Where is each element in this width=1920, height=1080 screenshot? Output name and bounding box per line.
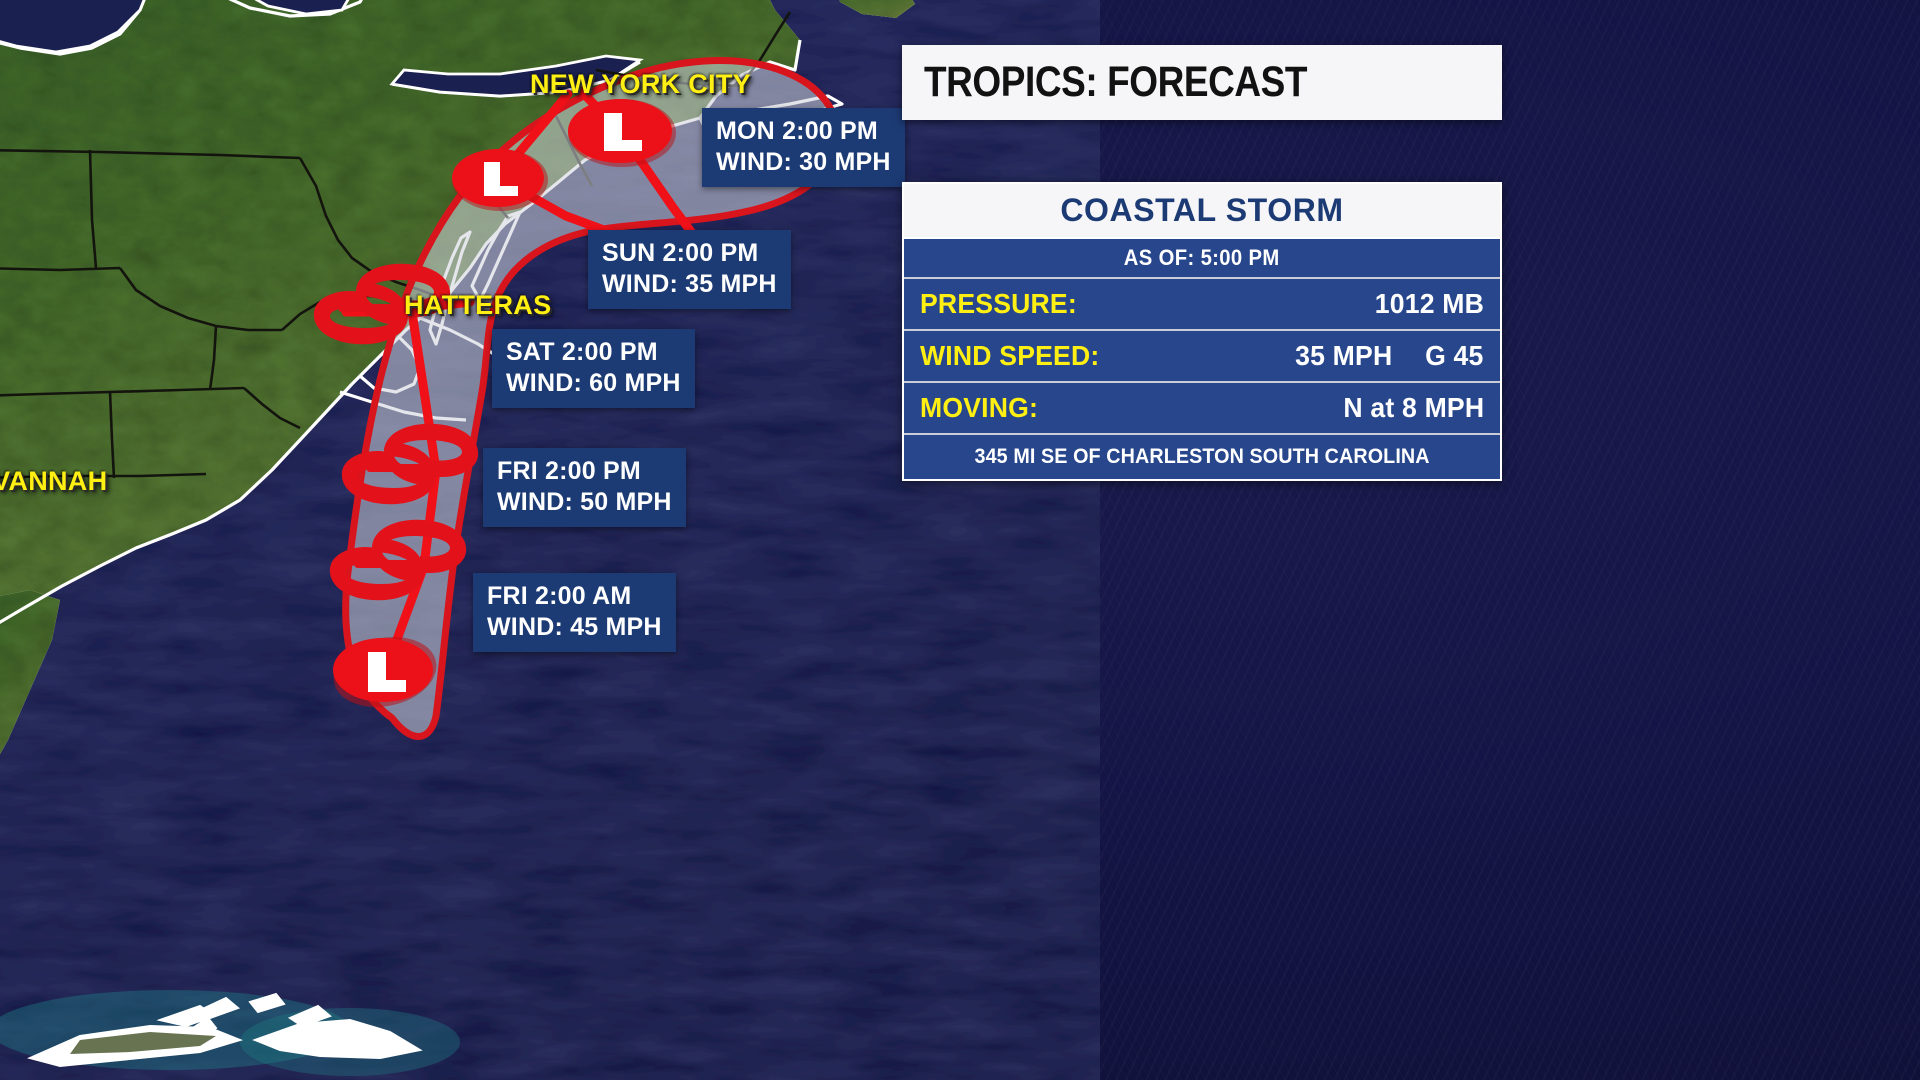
row-value: N at 8 MPH xyxy=(1343,392,1484,424)
row-value-gust: G 45 xyxy=(1426,340,1484,372)
row-value-wind: 35 MPH xyxy=(1295,340,1392,372)
row-label: WIND SPEED: xyxy=(920,340,1099,372)
forecast-time: FRI 2:00 AM xyxy=(487,581,662,612)
low-marker-mon xyxy=(568,99,676,167)
forecast-time: SAT 2:00 PM xyxy=(506,337,681,368)
table-row-moving: MOVING: N at 8 MPH xyxy=(904,381,1500,433)
forecast-wind: WIND: 50 MPH xyxy=(497,487,672,518)
forecast-callout-mon[interactable]: MON 2:00 PM WIND: 30 MPH xyxy=(702,108,905,187)
storm-info-panel: COASTAL STORM AS OF: 5:00 PM PRESSURE: 1… xyxy=(902,182,1502,481)
row-value: 1012 MB xyxy=(1375,288,1484,320)
storm-name-header: COASTAL STORM xyxy=(904,184,1500,237)
low-marker-mid xyxy=(452,149,548,211)
city-label-hatteras: HATTERAS xyxy=(404,290,551,321)
storm-location-row: 345 MI SE OF CHARLESTON SOUTH CAROLINA xyxy=(904,433,1500,479)
forecast-time: MON 2:00 PM xyxy=(716,116,891,147)
as-of-text: AS OF: 5:00 PM xyxy=(1124,245,1280,271)
forecast-callout-fri-pm[interactable]: FRI 2:00 PM WIND: 50 MPH xyxy=(483,448,686,527)
row-label: MOVING: xyxy=(920,392,1038,424)
forecast-wind: WIND: 35 MPH xyxy=(602,269,777,300)
city-label-savannah: SAVANNAH xyxy=(0,466,107,497)
forecast-callout-sat[interactable]: SAT 2:00 PM WIND: 60 MPH xyxy=(492,329,695,408)
forecast-graphic: NEW YORK CITY HATTERAS SAVANNAH MON 2:00… xyxy=(0,0,1920,1080)
as-of-row: AS OF: 5:00 PM xyxy=(904,237,1500,277)
forecast-callout-fri-am[interactable]: FRI 2:00 AM WIND: 45 MPH xyxy=(473,573,676,652)
forecast-wind: WIND: 30 MPH xyxy=(716,147,891,178)
forecast-time: SUN 2:00 PM xyxy=(602,238,777,269)
forecast-wind: WIND: 60 MPH xyxy=(506,368,681,399)
storm-name-text: COASTAL STORM xyxy=(1060,192,1343,229)
page-title: TROPICS: FORECAST xyxy=(902,45,1502,120)
page-title-text: TROPICS: FORECAST xyxy=(924,58,1307,107)
forecast-time: FRI 2:00 PM xyxy=(497,456,672,487)
forecast-wind: WIND: 45 MPH xyxy=(487,612,662,643)
forecast-callout-sun[interactable]: SUN 2:00 PM WIND: 35 MPH xyxy=(588,230,791,309)
city-label-new-york-city: NEW YORK CITY xyxy=(530,69,751,100)
table-row-pressure: PRESSURE: 1012 MB xyxy=(904,277,1500,329)
row-label: PRESSURE: xyxy=(920,288,1077,320)
table-row-wind-speed: WIND SPEED: 35 MPH G 45 xyxy=(904,329,1500,381)
storm-location-text: 345 MI SE OF CHARLESTON SOUTH CAROLINA xyxy=(974,445,1429,469)
weather-map[interactable]: NEW YORK CITY HATTERAS SAVANNAH xyxy=(0,0,1100,1080)
